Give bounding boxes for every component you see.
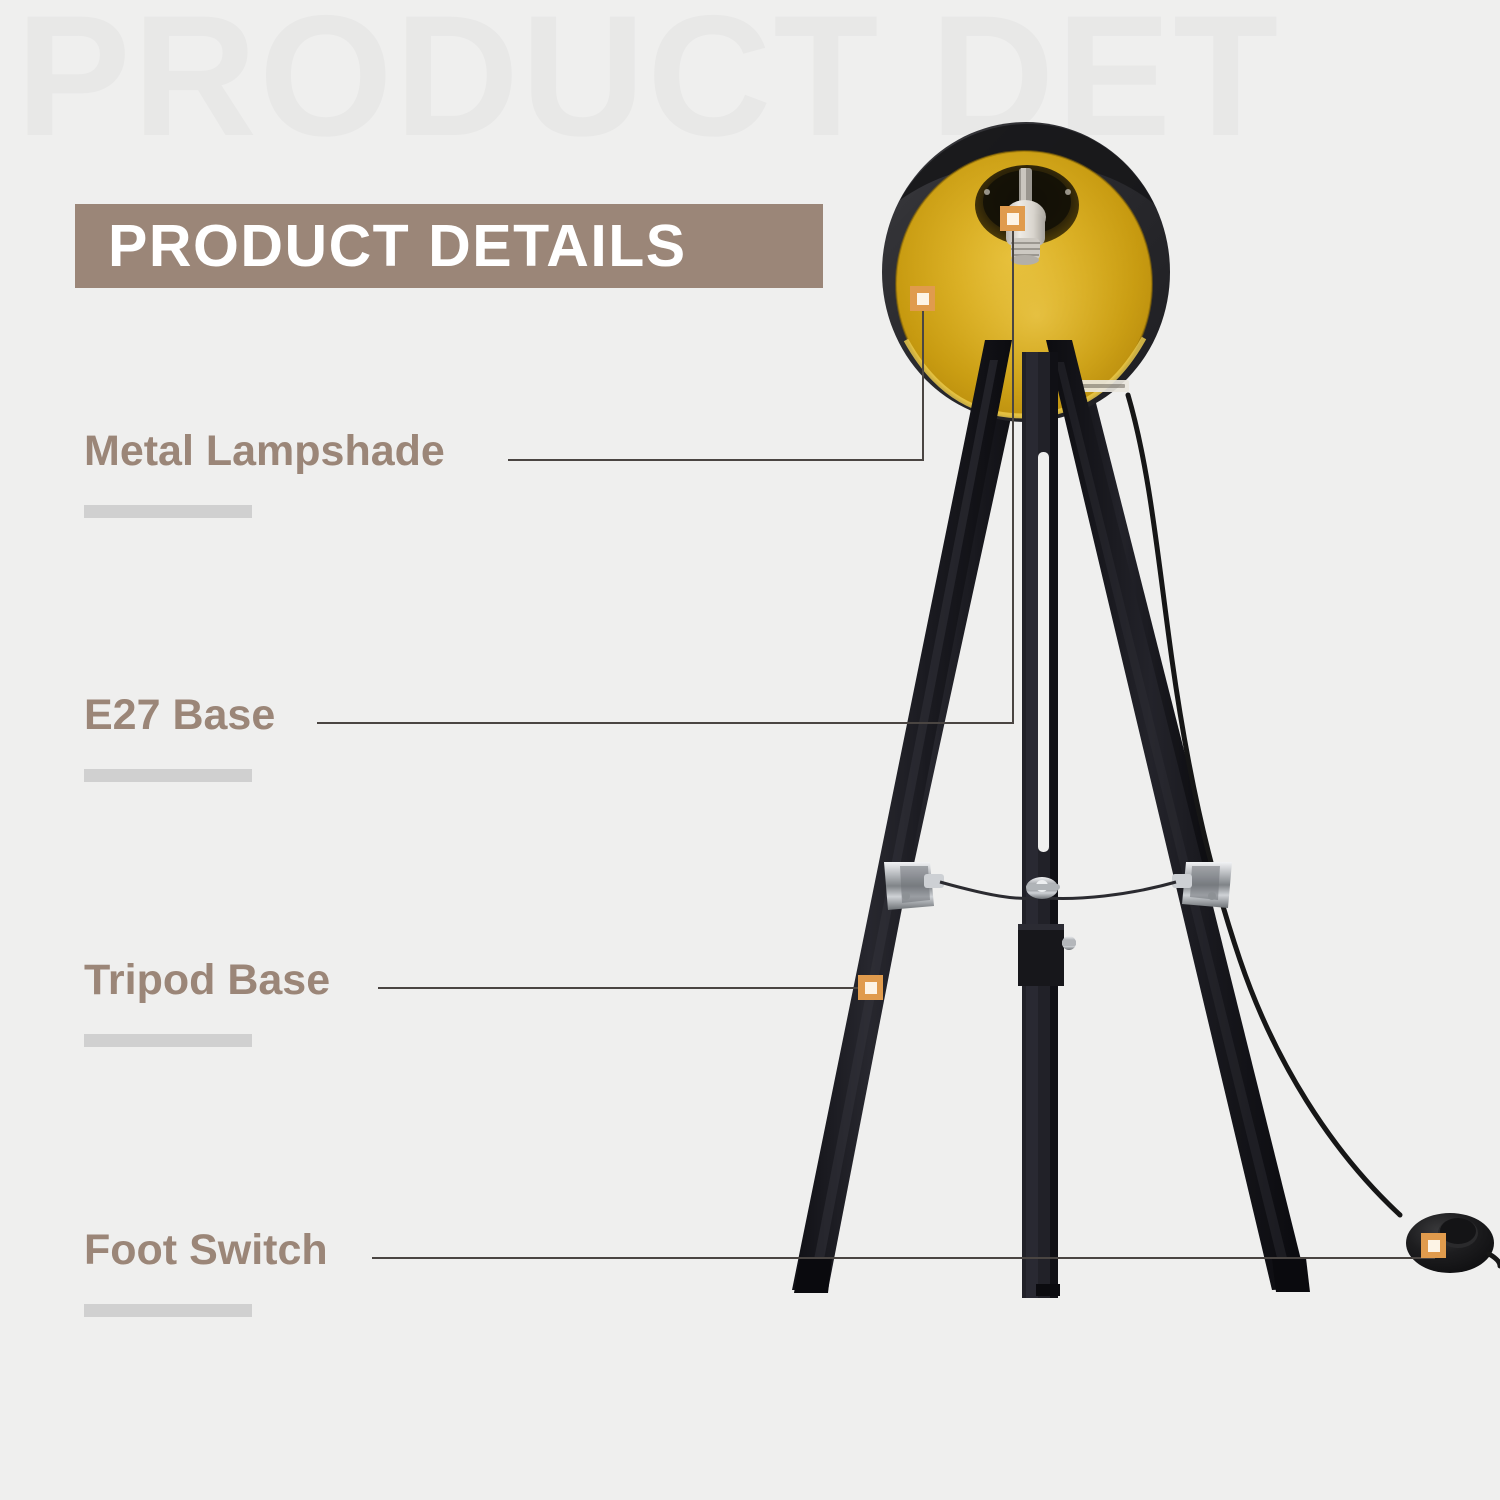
callout-label-text: Foot Switch — [84, 1229, 328, 1272]
callout-underline-bar — [84, 1304, 252, 1317]
leader-line-metal-lampshade-vertical — [922, 299, 924, 460]
callout-underline-bar — [84, 769, 252, 782]
callout-underline-bar — [84, 1034, 252, 1047]
leader-line-metal-lampshade-horizontal — [508, 459, 924, 461]
leader-line-e27-base-vertical — [1012, 219, 1014, 723]
title-banner: PRODUCT DETAILS — [75, 204, 823, 288]
callout-marker-metal-lampshade[interactable] — [910, 286, 935, 311]
callout-marker-foot-switch[interactable] — [1421, 1233, 1446, 1258]
callout-label-metal-lampshade: Metal Lampshade — [84, 430, 445, 518]
callout-underline-bar — [84, 505, 252, 518]
callout-label-e27-base: E27 Base — [84, 694, 275, 782]
leader-line-e27-base-horizontal — [317, 722, 1014, 724]
callout-marker-tripod-base[interactable] — [858, 975, 883, 1000]
callout-label-foot-switch: Foot Switch — [84, 1229, 328, 1317]
infographic-canvas: PRODUCT DET — [0, 0, 1500, 1500]
leader-line-tripod-base-horizontal — [378, 987, 864, 989]
callout-label-tripod-base: Tripod Base — [84, 959, 330, 1047]
callout-label-text: E27 Base — [84, 694, 275, 737]
background-watermark-text: PRODUCT DET — [16, 0, 1280, 162]
callout-label-text: Tripod Base — [84, 959, 330, 1002]
leader-line-foot-switch-horizontal — [372, 1257, 1435, 1259]
callout-marker-e27-base[interactable] — [1000, 206, 1025, 231]
page-title: PRODUCT DETAILS — [108, 212, 687, 280]
callout-label-text: Metal Lampshade — [84, 430, 445, 473]
